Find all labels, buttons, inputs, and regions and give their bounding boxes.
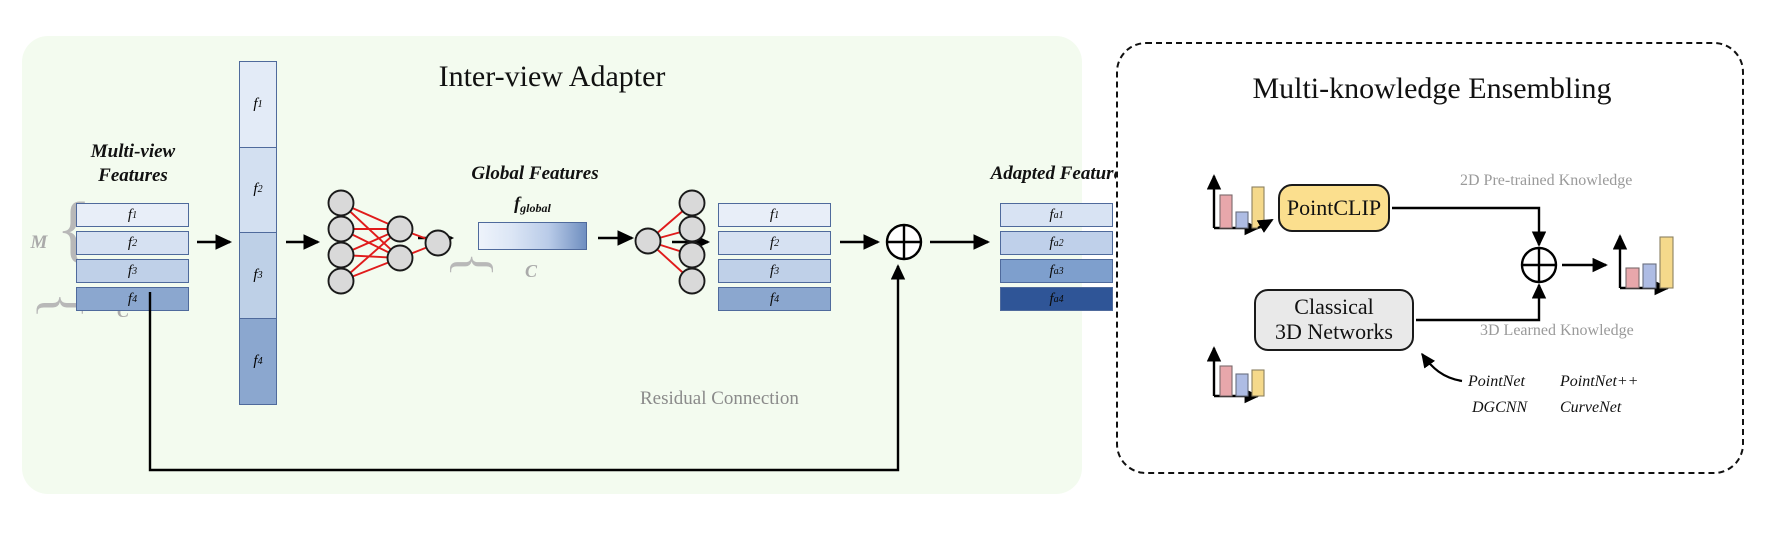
- chart-classical-input: [1214, 348, 1264, 396]
- sum-operator-right: [1522, 248, 1556, 282]
- path-pointclip-to-sum: [1392, 208, 1539, 245]
- path-classical-to-sum: [1416, 285, 1539, 320]
- right-panel-vectors: [0, 0, 1766, 550]
- chart-ensembled-output: [1620, 236, 1673, 288]
- chart-pointclip-input: [1214, 176, 1264, 228]
- callout-arrow-networks: [1422, 354, 1462, 381]
- figure-canvas: Inter-view Adapter Multi-view Features G…: [0, 0, 1766, 550]
